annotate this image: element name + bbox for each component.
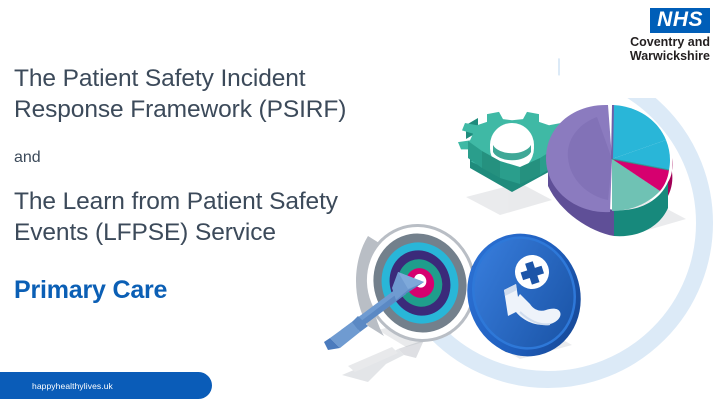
arrow-shadow — [342, 340, 424, 382]
page-title: The Patient Safety Incident Response Fra… — [14, 64, 394, 126]
nhs-trust-name: Coventry and Warwickshire — [630, 36, 710, 63]
nhs-logo: NHS Coventry and Warwickshire — [630, 8, 710, 63]
slide-canvas: NHS Coventry and Warwickshire The Patien… — [0, 0, 720, 405]
title-line-3: The Learn from Patient Safety — [14, 188, 338, 215]
title-line-1: The Patient Safety Incident — [14, 65, 305, 92]
arc-mask-top-left — [383, 58, 558, 248]
title-line-2: Response Framework (PSIRF) — [14, 96, 346, 123]
footer-website: happyhealthylives.uk — [32, 381, 113, 391]
audience-label: Primary Care — [14, 275, 394, 305]
arc-mask-top-right — [560, 58, 720, 98]
footer-bar: happyhealthylives.uk — [0, 372, 212, 399]
nhs-wordmark: NHS — [650, 8, 710, 33]
title-block: The Patient Safety Incident Response Fra… — [14, 64, 394, 305]
page-subtitle: The Learn from Patient Safety Events (LF… — [14, 187, 394, 249]
title-line-4: Events (LFPSE) Service — [14, 219, 276, 246]
title-connector: and — [14, 148, 394, 167]
